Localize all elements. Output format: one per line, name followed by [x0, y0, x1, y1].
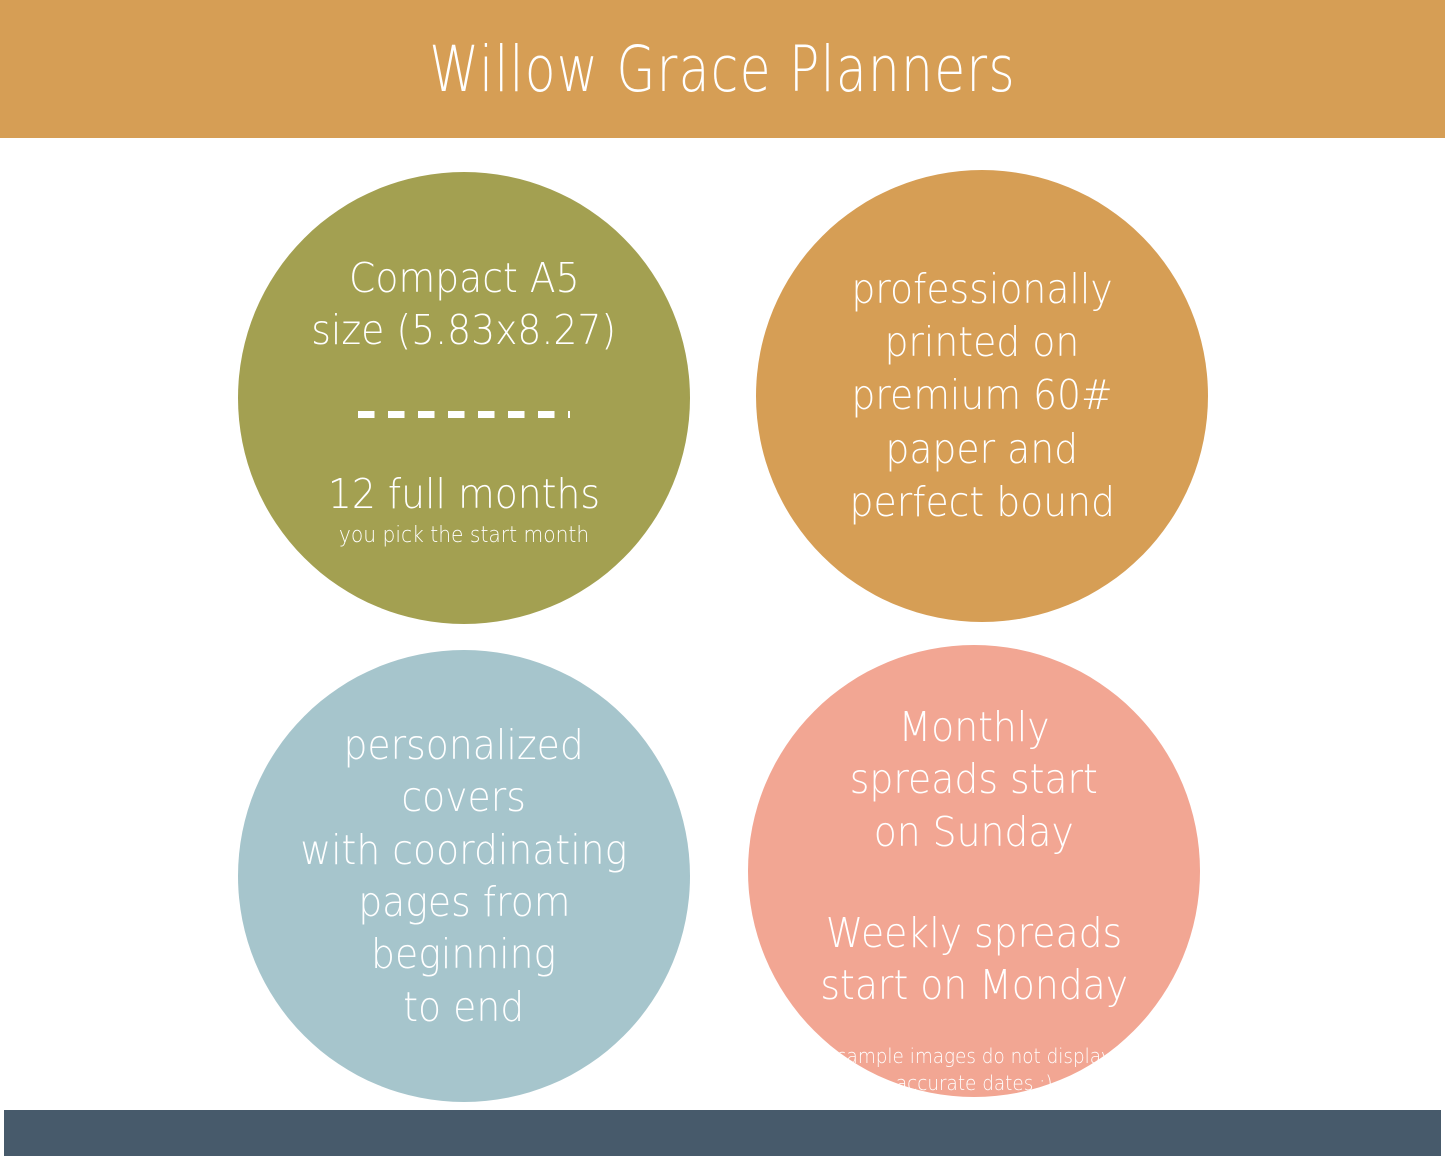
covers-line-1: personalized [344, 719, 584, 771]
a5-line-2: size (5.83x8.27) [312, 304, 617, 356]
spreads-monthly-line-3: on Sunday [874, 806, 1074, 858]
spreads-disclaimer-line-1: sample images do not display [837, 1043, 1112, 1070]
covers-line-3: with coordinating [300, 824, 627, 876]
printing-line-3: premium 60# [851, 369, 1112, 422]
spreads-weekly-block: Weekly spreads start on Monday [748, 907, 1200, 1012]
printing-line-4: paper and [886, 423, 1079, 476]
page-title: Willow Grace Planners [145, 0, 1301, 138]
a5-subtext: you pick the start month [339, 521, 589, 551]
covers-line-5: beginning [371, 928, 556, 980]
a5-line-1: Compact A5 [349, 252, 580, 304]
printing-line-2: printed on [885, 316, 1080, 369]
feature-circle-a5-size: Compact A5 size (5.83x8.27) 12 full mont… [238, 172, 690, 624]
spreads-weekly-line-1: Weekly spreads [826, 907, 1122, 959]
printing-line-1: professionally [851, 263, 1112, 316]
spreads-monthly-line-1: Monthly [898, 701, 1049, 753]
covers-line-6: to end [404, 981, 525, 1033]
spreads-disclaimer-line-2: accurate dates :) [896, 1070, 1053, 1097]
product-info-graphic: Willow Grace Planners Compact A5 size (5… [0, 0, 1445, 1156]
spreads-weekly-line-2: start on Monday [820, 959, 1128, 1011]
covers-line-4: pages from [358, 876, 570, 928]
feature-circle-covers: personalized covers with coordinating pa… [238, 650, 690, 1102]
spreads-monthly-block: Monthly spreads start on Sunday [748, 701, 1200, 858]
feature-circle-printing: professionally printed on premium 60# pa… [756, 170, 1208, 622]
printing-text-block: professionally printed on premium 60# pa… [756, 263, 1208, 529]
feature-circle-spreads: Monthly spreads start on Sunday Weekly s… [748, 645, 1200, 1097]
a5-months-line: 12 full months [328, 472, 600, 517]
dashed-divider [358, 411, 570, 418]
spreads-disclaimer-block: sample images do not display accurate da… [748, 1043, 1200, 1097]
covers-line-2: covers [402, 771, 527, 823]
feature-circle-grid: Compact A5 size (5.83x8.27) 12 full mont… [0, 138, 1445, 1110]
a5-top-text-block: Compact A5 size (5.83x8.27) [238, 252, 690, 357]
spreads-monthly-line-2: spreads start [850, 753, 1098, 805]
printing-line-5: perfect bound [849, 476, 1114, 529]
covers-text-block: personalized covers with coordinating pa… [238, 719, 690, 1034]
a5-bottom-text-block: 12 full months you pick the start month [238, 472, 690, 551]
footer-bar [4, 1110, 1441, 1156]
